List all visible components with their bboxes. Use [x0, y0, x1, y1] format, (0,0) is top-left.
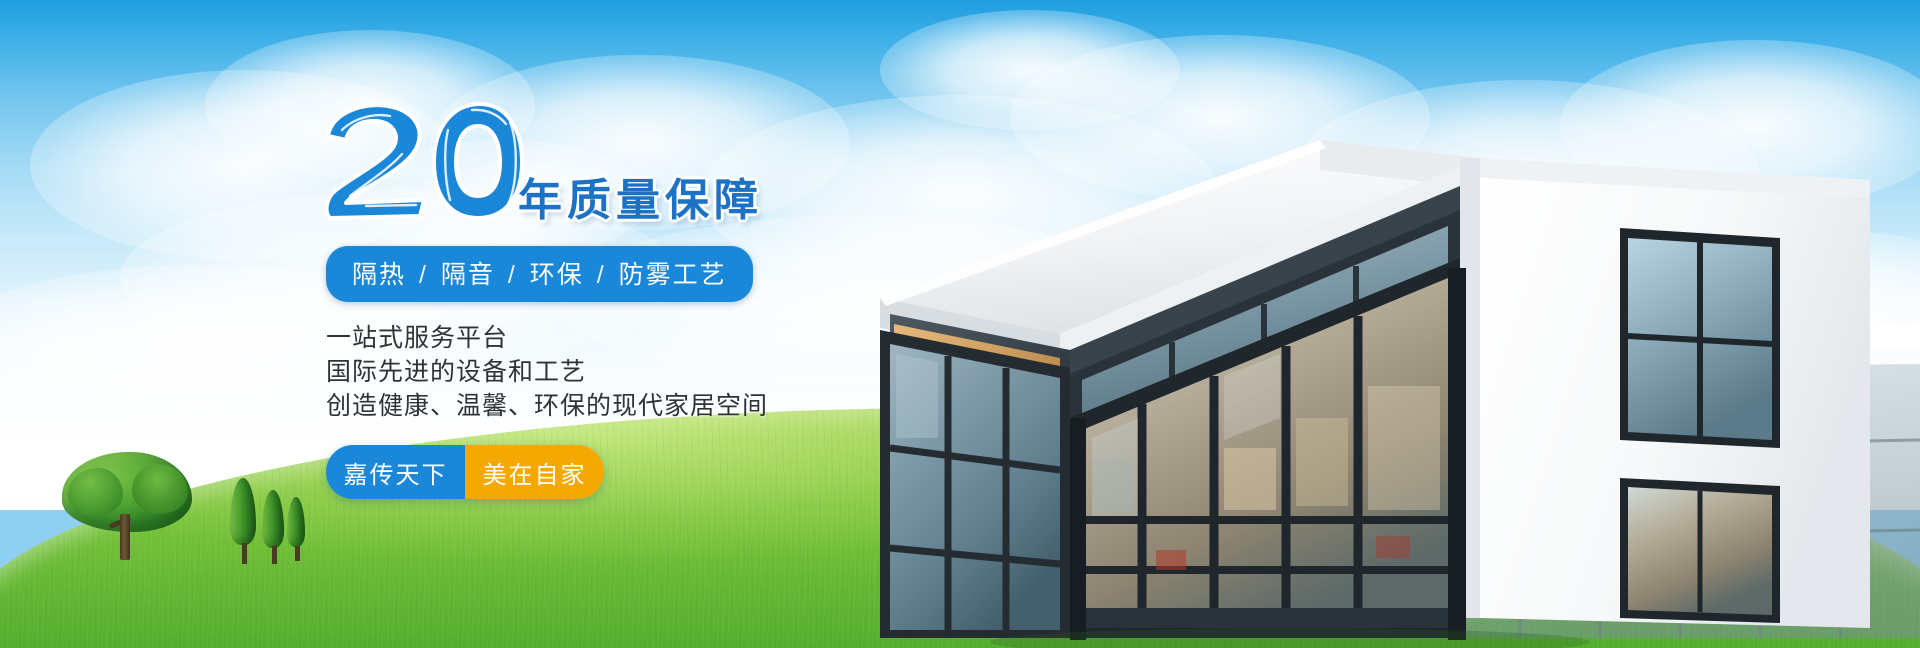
feature-separator: / [415, 261, 432, 289]
twenty-years-number [320, 100, 530, 220]
cypress-foliage [287, 497, 305, 547]
promo-banner: 年质量保障 隔热 / 隔音 / 环保 / 防雾工艺 一站式服务平台 国际先进的设… [0, 0, 1920, 648]
cta-button-group[interactable]: 嘉传天下 美在自家 [326, 445, 604, 499]
feature-separator: / [504, 261, 521, 289]
cypress-trunk [295, 546, 300, 561]
gable-window-lower [1620, 478, 1780, 623]
description-line-3: 创造健康、温馨、环保的现代家居空间 [326, 389, 978, 423]
feature-item-2: 环保 [530, 261, 584, 289]
cypress-tree-icon [230, 478, 256, 564]
feature-item-3: 防雾工艺 [619, 261, 727, 289]
cypress-foliage [230, 478, 256, 545]
cypress-trunk [242, 543, 247, 564]
headline-group: 年质量保障 [318, 100, 978, 240]
corner-post [1448, 268, 1466, 640]
description-block: 一站式服务平台 国际先进的设备和工艺 创造健康、温馨、环保的现代家居空间 [326, 321, 978, 423]
gable-window [1620, 228, 1780, 448]
cypress-trunk [272, 546, 277, 564]
corner-post [1070, 418, 1086, 640]
tree-icon [62, 452, 192, 562]
feature-item-1: 隔音 [441, 261, 495, 289]
cypress-tree-icon [262, 490, 284, 564]
tree-trunk [120, 514, 130, 560]
feature-pill: 隔热 / 隔音 / 环保 / 防雾工艺 [326, 246, 753, 302]
cta-secondary-button[interactable]: 美在自家 [465, 445, 604, 499]
description-line-2: 国际先进的设备和工艺 [326, 355, 978, 389]
sunroom-house-illustration [820, 118, 1920, 648]
cta-primary-button[interactable]: 嘉传天下 [326, 445, 465, 499]
feature-item-0: 隔热 [352, 261, 406, 289]
cypress-foliage [262, 490, 284, 548]
guarantee-text: 年质量保障 [518, 164, 763, 228]
cypress-tree-icon [287, 497, 305, 561]
banner-content: 年质量保障 隔热 / 隔音 / 环保 / 防雾工艺 一站式服务平台 国际先进的设… [318, 100, 978, 499]
description-line-1: 一站式服务平台 [326, 321, 978, 355]
feature-separator: / [593, 261, 610, 289]
tree-canopy [68, 468, 123, 516]
